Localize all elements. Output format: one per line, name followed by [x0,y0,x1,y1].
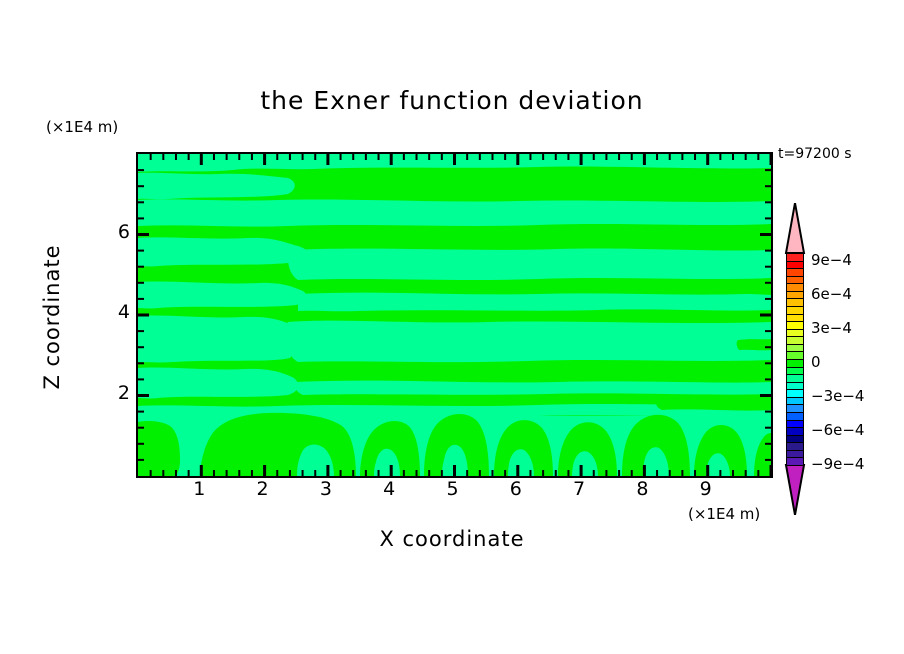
x-tick-label: 6 [496,478,536,500]
x-tick-label: 8 [622,478,662,500]
x-tick-label: 3 [306,478,346,500]
x-tick-label: 7 [559,478,599,500]
colorbar-tick-label: −3e−4 [811,387,864,405]
x-axis-unit-label: (×1E4 m) [688,505,760,523]
x-tick-label: 5 [433,478,473,500]
page-title: the Exner function deviation [0,86,904,115]
y-tick-label: 2 [90,382,130,404]
colorbar-tick-label: 9e−4 [811,251,852,269]
colorbar-tick-label: −6e−4 [811,421,864,439]
x-tick-label: 1 [179,478,219,500]
y-axis-title: Z coordinate [40,207,64,427]
colorbar-tick-label: 0 [811,353,821,371]
colorbar-tick-label: 3e−4 [811,319,852,337]
colorbar-over-arrow [786,203,804,253]
x-axis-title: X coordinate [0,527,904,551]
y-tick-label: 6 [90,221,130,243]
colorbar-under-arrow [786,465,804,515]
y-tick-label: 4 [90,301,130,323]
colorbar [783,203,807,515]
y-axis-unit-label: (×1E4 m) [46,118,118,136]
x-tick-label: 9 [686,478,726,500]
x-tick-label: 4 [369,478,409,500]
contour-field [138,154,771,476]
colorbar-tick-label: −9e−4 [811,455,864,473]
x-tick-label: 2 [243,478,283,500]
colorbar-band [786,457,804,466]
contour-plot-area [136,152,773,478]
colorbar-tick-label: 6e−4 [811,285,852,303]
timestamp-label: t=97200 s [778,146,852,162]
